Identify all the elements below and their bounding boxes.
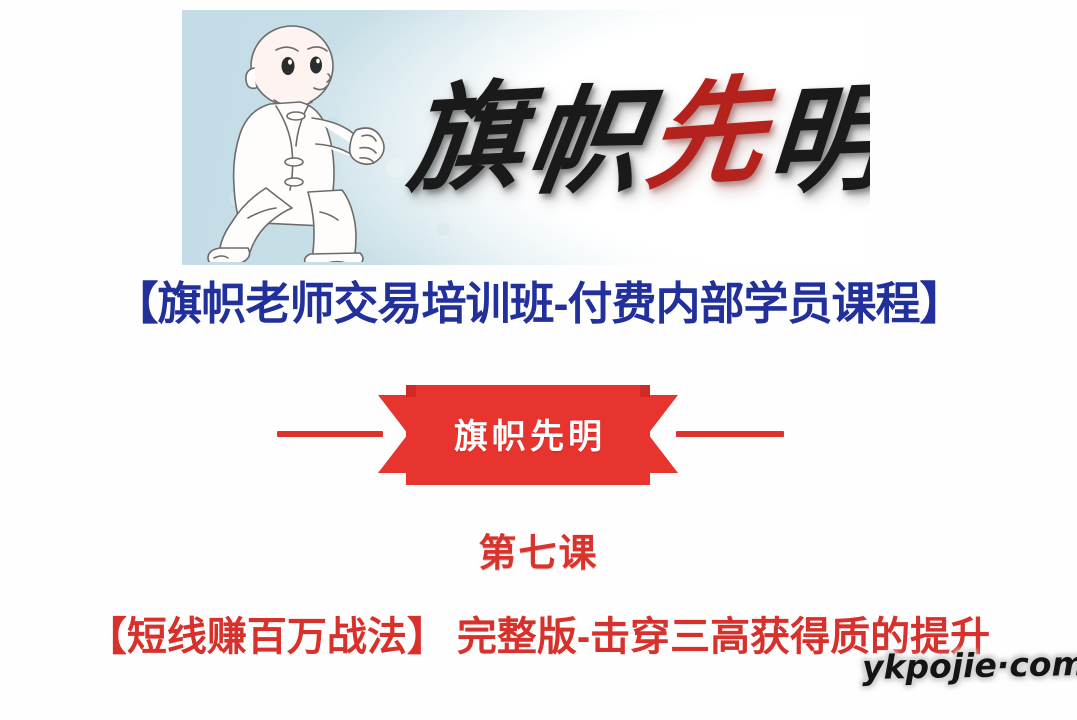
calligraphy-char-4: 明 (764, 80, 870, 200)
calligraphy-char-1: 旗 (404, 77, 533, 199)
subtitle-bracketed-part: 【短线赚百万战法】 (87, 615, 447, 659)
kungfu-boy-figure-icon (204, 22, 424, 262)
hero-masthead-image: 旗 帜 先 明 (182, 10, 870, 265)
slide-canvas: 旗 帜 先 明 【旗帜老师交易培训班-付费内部学员课程】 旗帜先明 (0, 0, 1077, 720)
calligraphy-char-3: 先 (642, 72, 775, 196)
ribbon-shape: 旗帜先明 (378, 375, 678, 493)
site-watermark: ykpojie·com (862, 644, 1077, 687)
ribbon-label: 旗帜先明 (378, 375, 678, 493)
ribbon-banner: 旗帜先明 (0, 375, 1077, 493)
hero-calligraphy: 旗 帜 先 明 (408, 48, 858, 228)
page-title: 【旗帜老师交易培训班-付费内部学员课程】 (0, 278, 1077, 330)
ribbon-rule-left (277, 431, 383, 437)
ribbon-rule-right (676, 431, 784, 437)
lesson-number: 第七课 (0, 522, 1077, 577)
calligraphy-char-2: 帜 (519, 83, 656, 201)
